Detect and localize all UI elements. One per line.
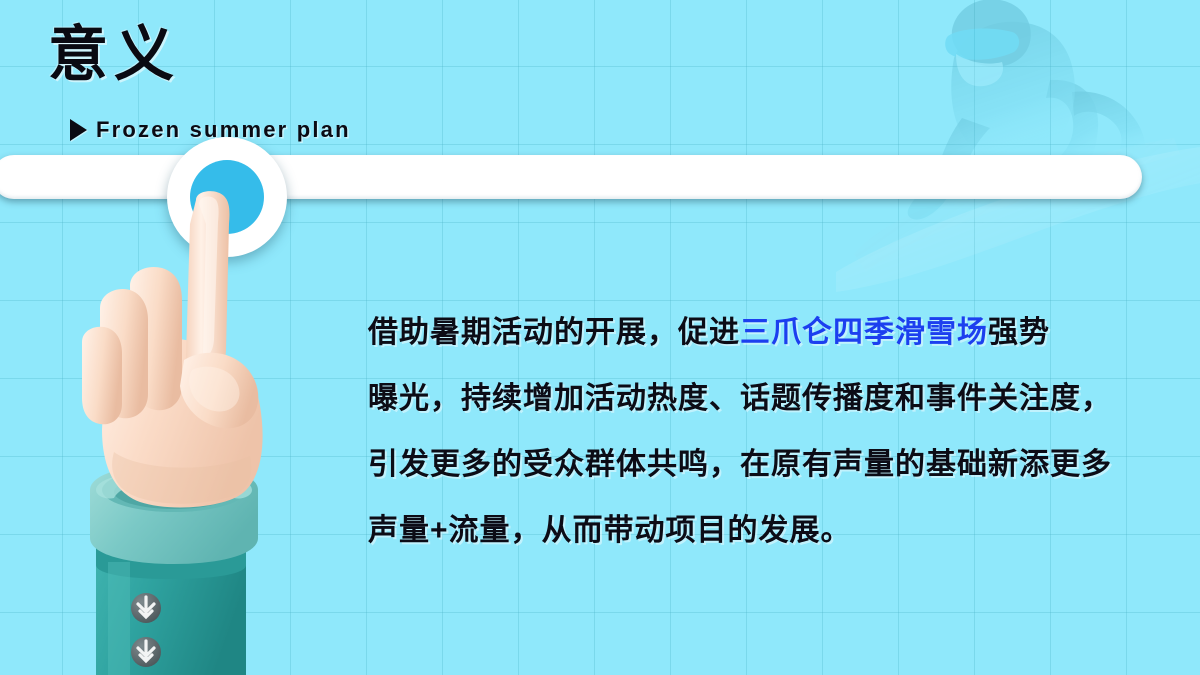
highlighted-brand-name: 三爪仑四季滑雪场 bbox=[740, 316, 988, 349]
body-text-segment: 借助暑期活动的开展，促进 bbox=[368, 316, 740, 349]
slide-canvas: 意义 Frozen summer plan bbox=[0, 0, 1200, 675]
body-paragraph: 借助暑期活动的开展，促进三爪仑四季滑雪场强势曝光，持续增加活动热度、话题传播度和… bbox=[368, 300, 1128, 564]
body-line: 引发更多的受众群体共鸣，在原有声量的基础新添更多 bbox=[368, 432, 1128, 498]
sleeve-button bbox=[131, 593, 161, 623]
snowboarder-photo bbox=[836, 0, 1200, 292]
header-block: 意义 Frozen summer plan bbox=[0, 0, 620, 160]
body-line: 声量+流量，从而带动项目的发展。 bbox=[368, 498, 1128, 564]
body-text-segment: 声量+流量，从而带动项目的发展。 bbox=[368, 514, 852, 547]
body-text-segment: 曝光，持续增加活动热度、话题传播度和事件关注度， bbox=[368, 382, 1112, 415]
sleeve-button bbox=[131, 637, 161, 667]
pointing-hand-3d bbox=[78, 190, 308, 675]
body-text-segment: 强势 bbox=[988, 316, 1050, 349]
body-text-segment: 引发更多的受众群体共鸣，在原有声量的基础新添更多 bbox=[368, 448, 1112, 481]
body-line: 曝光，持续增加活动热度、话题传播度和事件关注度， bbox=[368, 366, 1128, 432]
play-triangle-icon bbox=[70, 119, 87, 141]
body-line: 借助暑期活动的开展，促进三爪仑四季滑雪场强势 bbox=[368, 300, 1128, 366]
page-title: 意义 bbox=[48, 25, 180, 85]
